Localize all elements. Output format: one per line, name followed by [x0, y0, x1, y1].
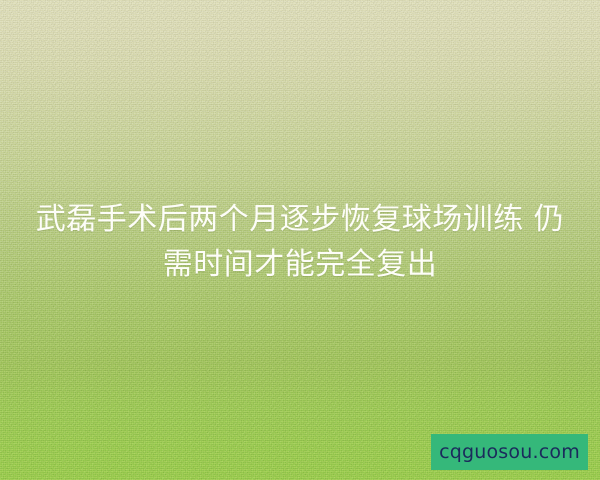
headline-line-1: 武磊手术后两个月逐步恢复球场训练 仍 — [28, 197, 572, 242]
image-card: 武磊手术后两个月逐步恢复球场训练 仍 需时间才能完全复出 cqguosou.co… — [0, 0, 600, 480]
watermark-badge: cqguosou.com — [431, 434, 588, 470]
headline-text: 武磊手术后两个月逐步恢复球场训练 仍 需时间才能完全复出 — [0, 197, 600, 287]
headline-line-2: 需时间才能完全复出 — [28, 242, 572, 287]
watermark-label: cqguosou.com — [439, 443, 580, 462]
